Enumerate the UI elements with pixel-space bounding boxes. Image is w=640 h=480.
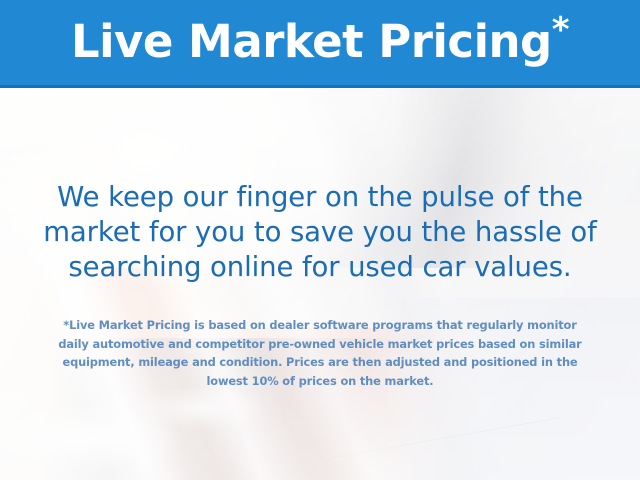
headline: We keep our finger on the pulse of the m… — [22, 180, 618, 285]
disclaimer-line-3: equipment, mileage and condition. Prices… — [28, 353, 612, 372]
page-title-asterisk: * — [552, 10, 569, 50]
page-title: Live Market Pricing* — [71, 19, 569, 64]
slide-content: We keep our finger on the pulse of the m… — [0, 88, 640, 480]
headline-line-1: We keep our finger on the pulse of the — [22, 180, 618, 215]
header-banner: Live Market Pricing* — [0, 0, 640, 88]
page-title-text: Live Market Pricing — [71, 15, 552, 68]
disclaimer-line-1: *Live Market Pricing is based on dealer … — [28, 316, 612, 335]
headline-line-2: market for you to save you the hassle of — [22, 215, 618, 250]
live-market-pricing-slide: Live Market Pricing* We keep our finger … — [0, 0, 640, 480]
disclaimer-line-2: daily automotive and competitor pre-owne… — [28, 335, 612, 354]
disclaimer-line-4: lowest 10% of prices on the market. — [28, 372, 612, 391]
disclaimer: *Live Market Pricing is based on dealer … — [28, 316, 612, 391]
headline-line-3: searching online for used car values. — [22, 250, 618, 285]
